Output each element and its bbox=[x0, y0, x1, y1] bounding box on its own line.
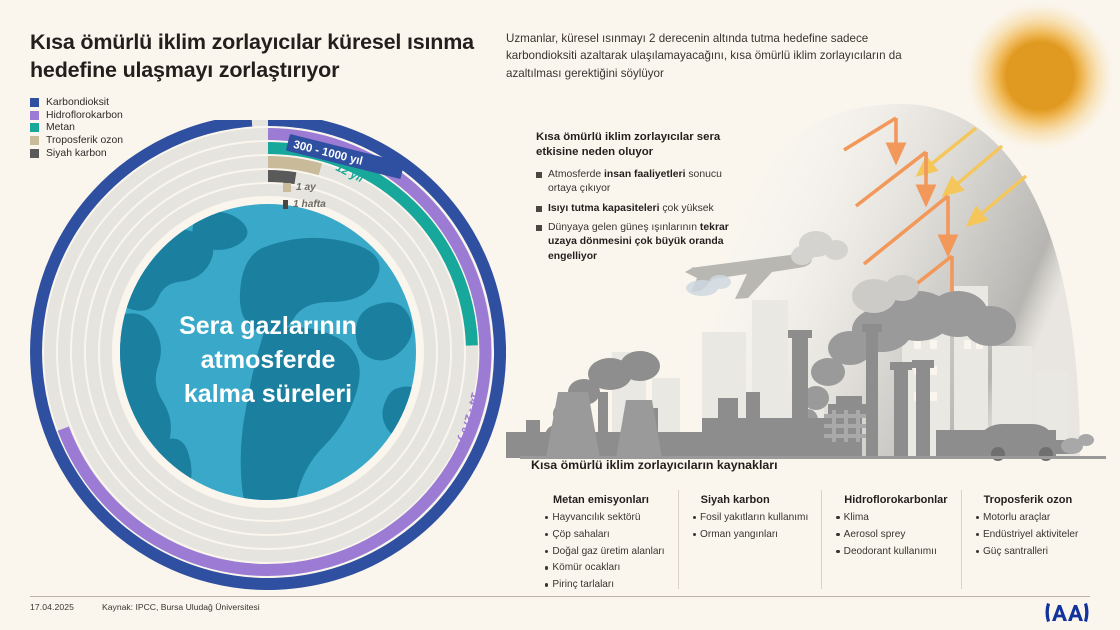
list-item-text: Kömür ocakları bbox=[552, 561, 620, 575]
globe-text-line-3: kalma süreleri bbox=[184, 380, 352, 408]
sources-column-troposferik-ozon: Troposferik ozon Motorlu araçlar Endüstr… bbox=[962, 494, 1093, 595]
sources-column-heading: Metan emisyonları bbox=[553, 494, 665, 506]
footer-divider bbox=[30, 596, 1090, 597]
arc-mini-legend-black-carbon: 1 hafta bbox=[283, 199, 326, 210]
legend-swatch-icon bbox=[30, 111, 39, 120]
sources-column-siyah-karbon: Siyah karbon Fosil yakıtların kullanımı … bbox=[679, 494, 823, 595]
bullet-square-icon bbox=[536, 172, 542, 178]
sources-column-heading: Hidroflorokarbonlar bbox=[844, 494, 947, 506]
list-item: Doğal gaz üretim alanları bbox=[545, 545, 665, 559]
list-item-text: Güç santralleri bbox=[983, 545, 1048, 559]
bullet-dot-icon bbox=[545, 516, 548, 519]
bullet-dot-icon bbox=[836, 533, 839, 536]
list-item: Deodorant kullanımıı bbox=[836, 545, 947, 559]
bullet-dot-icon bbox=[836, 550, 839, 553]
bullet-text: Dünyaya gelen güneş ışınlarının tekrar u… bbox=[548, 221, 746, 264]
bullet-dot-icon bbox=[693, 516, 696, 519]
bullet-dot-icon bbox=[545, 550, 548, 553]
bullet-square-icon bbox=[536, 225, 542, 231]
list-item-text: Pirinç tarlaları bbox=[552, 578, 614, 592]
list-item: Klima bbox=[836, 511, 947, 525]
bullet-item: Dünyaya gelen güneş ışınlarının tekrar u… bbox=[536, 221, 746, 264]
bullet-dot-icon bbox=[976, 550, 979, 553]
legend-swatch-icon bbox=[30, 98, 39, 107]
arc-label-black-carbon-text: 1 hafta bbox=[293, 199, 326, 210]
bullet-item: Atmosferde insan faaliyetleri sonucu ort… bbox=[536, 168, 746, 197]
arc-troposferik-ozon bbox=[268, 162, 320, 169]
list-item-text: Endüstriyel aktiviteler bbox=[983, 528, 1078, 542]
bullet-text: Isıyı tutma kapasiteleri çok yüksek bbox=[548, 202, 714, 216]
list-item: Pirinç tarlaları bbox=[545, 578, 665, 592]
infographic-canvas: Kısa ömürlü iklim zorlayıcılar küresel ı… bbox=[0, 0, 1120, 630]
list-item: Aerosol sprey bbox=[836, 528, 947, 542]
sources-column-heading: Troposferik ozon bbox=[984, 494, 1079, 506]
bullet-dot-icon bbox=[545, 583, 548, 586]
list-item-text: Fosil yakıtların kullanımı bbox=[700, 511, 808, 525]
industry-pipes bbox=[824, 410, 866, 442]
sources-column-hidroflorokarbonlar: Hidroflorokarbonlar Klima Aerosol sprey … bbox=[822, 494, 961, 595]
bullet-dot-icon bbox=[836, 516, 839, 519]
list-item: Kömür ocakları bbox=[545, 561, 665, 575]
globe-text-line-2: atmosferde bbox=[201, 346, 336, 374]
bullet-square-icon bbox=[536, 206, 542, 212]
arc-siyah-karbon bbox=[268, 176, 295, 178]
list-item: Çöp sahaları bbox=[545, 528, 665, 542]
list-item-text: Motorlu araçlar bbox=[983, 511, 1050, 525]
greenhouse-heading: Kısa ömürlü iklim zorlayıcılar sera etki… bbox=[536, 130, 746, 161]
arc-label-ozone-text: 1 ay bbox=[296, 182, 316, 193]
list-item: Fosil yakıtların kullanımı bbox=[693, 511, 809, 525]
sources-columns: Metan emisyonları Hayvancılık sektörü Çö… bbox=[531, 494, 1120, 595]
sources-title: Kısa ömürlü iklim zorlayıcıların kaynakl… bbox=[531, 458, 1120, 472]
bullet-dot-icon bbox=[545, 566, 548, 569]
bullet-text: Atmosferde insan faaliyetleri sonucu ort… bbox=[548, 168, 746, 197]
sources-column-metan: Metan emisyonları Hayvancılık sektörü Çö… bbox=[531, 494, 679, 595]
black-carbon-swatch-icon bbox=[283, 200, 288, 209]
lifetime-arc-chart: Sera gazlarının atmosferde kalma süreler… bbox=[0, 120, 506, 590]
list-item-text: Orman yangınları bbox=[700, 528, 778, 542]
greenhouse-bullets: Kısa ömürlü iklim zorlayıcılar sera etki… bbox=[536, 130, 746, 269]
legend-label: Karbondioksit bbox=[46, 97, 109, 108]
list-item-text: Klima bbox=[844, 511, 869, 525]
list-item-text: Deodorant kullanımıı bbox=[844, 545, 937, 559]
sources-section: Kısa ömürlü iklim zorlayıcıların kaynakl… bbox=[506, 458, 1120, 595]
list-item-text: Aerosol sprey bbox=[844, 528, 906, 542]
list-item-text: Çöp sahaları bbox=[552, 528, 609, 542]
list-item: Hayvancılık sektörü bbox=[545, 511, 665, 525]
list-item: Güç santralleri bbox=[976, 545, 1079, 559]
bullet-item: Isıyı tutma kapasiteleri çok yüksek bbox=[536, 202, 746, 216]
footer-date: 17.04.2025 bbox=[30, 602, 74, 612]
list-item-text: Hayvancılık sektörü bbox=[552, 511, 640, 525]
list-item: Orman yangınları bbox=[693, 528, 809, 542]
globe-text-line-1: Sera gazlarının bbox=[179, 312, 357, 340]
bullet-dot-icon bbox=[693, 533, 696, 536]
bullet-dot-icon bbox=[976, 533, 979, 536]
legend-item-karbondioksit: Karbondioksit bbox=[30, 96, 123, 109]
page-title: Kısa ömürlü iklim zorlayıcılar küresel ı… bbox=[30, 28, 500, 85]
bullet-dot-icon bbox=[545, 533, 548, 536]
list-item: Endüstriyel aktiviteler bbox=[976, 528, 1079, 542]
sun-icon bbox=[966, 2, 1114, 150]
footer-source: Kaynak: IPCC, Bursa Uludağ Üniversitesi bbox=[102, 602, 260, 612]
arc-mini-legend-ozone: 1 ay bbox=[283, 182, 316, 193]
bullet-dot-icon bbox=[976, 516, 979, 519]
list-item: Motorlu araçlar bbox=[976, 511, 1079, 525]
footer: 17.04.2025 Kaynak: IPCC, Bursa Uludağ Ün… bbox=[30, 602, 260, 612]
sources-column-heading: Siyah karbon bbox=[701, 494, 809, 506]
list-item-text: Doğal gaz üretim alanları bbox=[552, 545, 664, 559]
aa-logo bbox=[1044, 600, 1090, 626]
ozone-swatch-icon bbox=[283, 183, 291, 192]
